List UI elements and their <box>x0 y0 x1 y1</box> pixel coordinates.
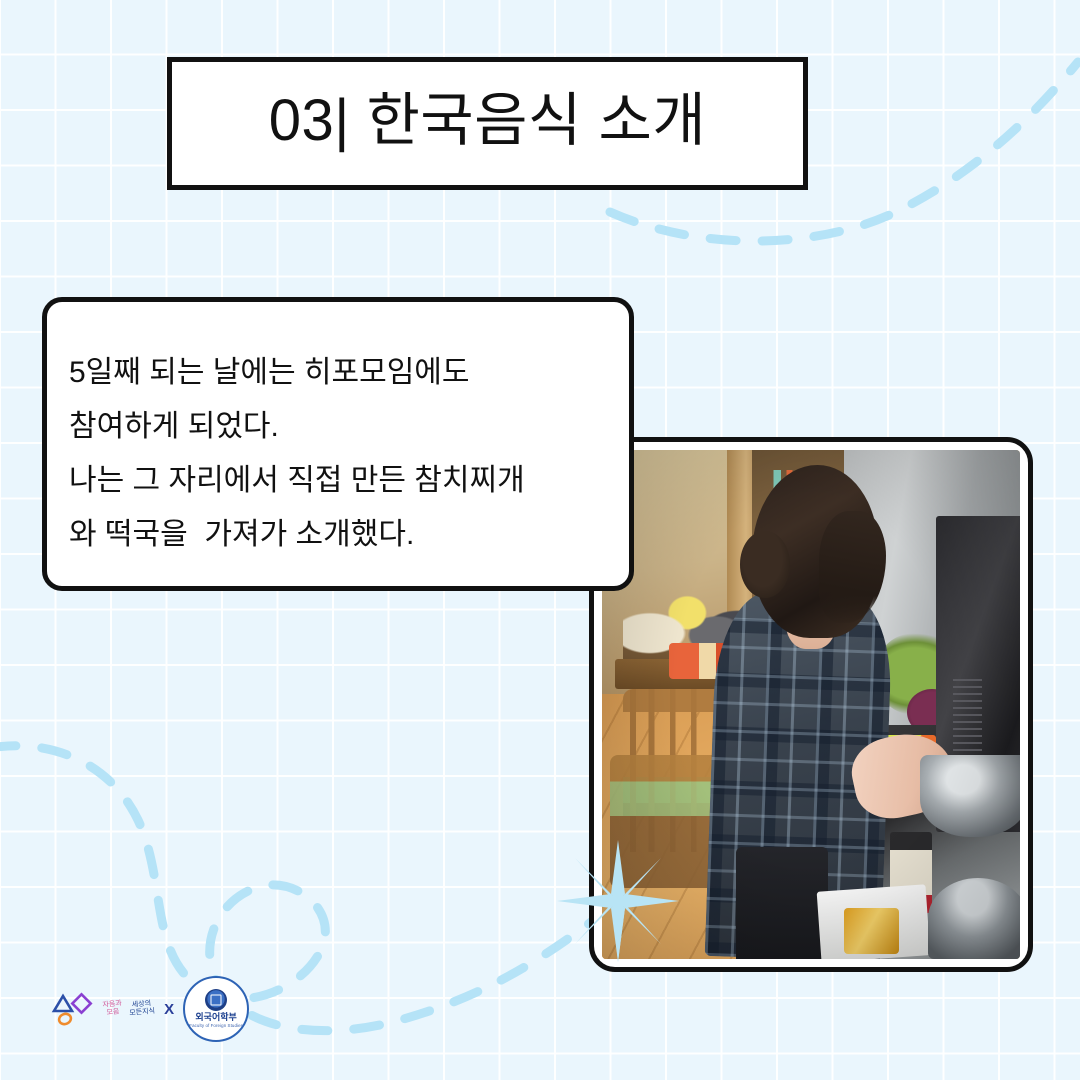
footer-logos: 자음과 모음 세상의 모든지식 X 외국어학부 Faculty of Forei… <box>50 978 249 1040</box>
logo-word-left: 자음과 모음 <box>102 1000 123 1018</box>
logo-word-right: 세상의 모든지식 <box>129 1000 156 1018</box>
jaeum-moeum-shapes-icon <box>50 992 96 1026</box>
body-line-4: 와 떡국을 가져가 소개했다. <box>69 508 607 562</box>
page-title: 03| 한국음식 소개 <box>269 92 706 150</box>
university-seal: 외국어학부 Faculty of Foreign Studies <box>183 976 249 1042</box>
seal-english-label: Faculty of Foreign Studies <box>189 1023 243 1029</box>
body-line-2: 참여하게 되었다. <box>69 400 607 454</box>
slide-canvas: 03| 한국음식 소개 5일째 되는 날에는 히포모임에도 참여하게 되었다. … <box>0 0 1080 1080</box>
photo-vignette <box>602 450 1020 959</box>
body-line-3: 나는 그 자리에서 직접 만든 참치찌개 <box>69 454 607 508</box>
seal-korean-label: 외국어학부 <box>195 1012 236 1022</box>
title-box: 03| 한국음식 소개 <box>167 57 808 190</box>
body-text-box: 5일째 되는 날에는 히포모임에도 참여하게 되었다. 나는 그 자리에서 직접… <box>42 297 634 591</box>
logo-connector-x: X <box>162 1001 176 1018</box>
cooking-photo <box>602 450 1020 959</box>
body-line-1: 5일째 되는 날에는 히포모임에도 <box>69 346 607 400</box>
photo-frame <box>589 437 1033 972</box>
seal-emblem-icon <box>205 989 227 1011</box>
